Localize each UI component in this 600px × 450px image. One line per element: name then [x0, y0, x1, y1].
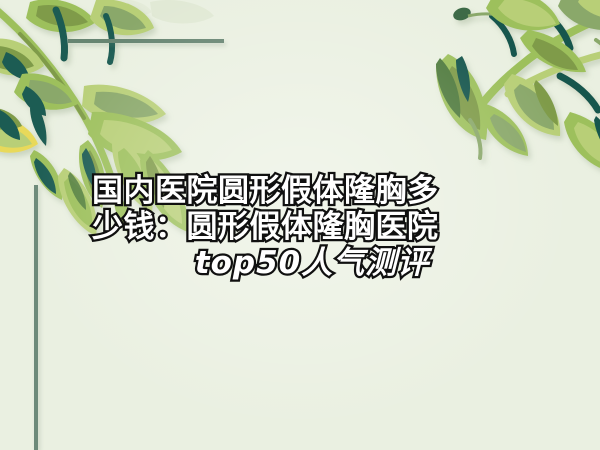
ghost-leaf-top-center: [106, 0, 214, 23]
page-title: 国内医院圆形假体隆胸多 少钱：圆形假体隆胸医院 top50人气测评: [92, 173, 532, 281]
leaf-cluster-top-right: [436, 0, 600, 174]
title-line-1: 国内医院圆形假体隆胸多: [92, 173, 532, 209]
poster-canvas: 国内医院圆形假体隆胸多 少钱：圆形假体隆胸医院 top50人气测评: [0, 0, 600, 450]
title-line-3: top50人气测评: [92, 245, 532, 281]
title-line-2: 少钱：圆形假体隆胸医院: [92, 209, 532, 245]
vertical-rule: [34, 185, 38, 450]
horizontal-rule: [68, 39, 224, 43]
